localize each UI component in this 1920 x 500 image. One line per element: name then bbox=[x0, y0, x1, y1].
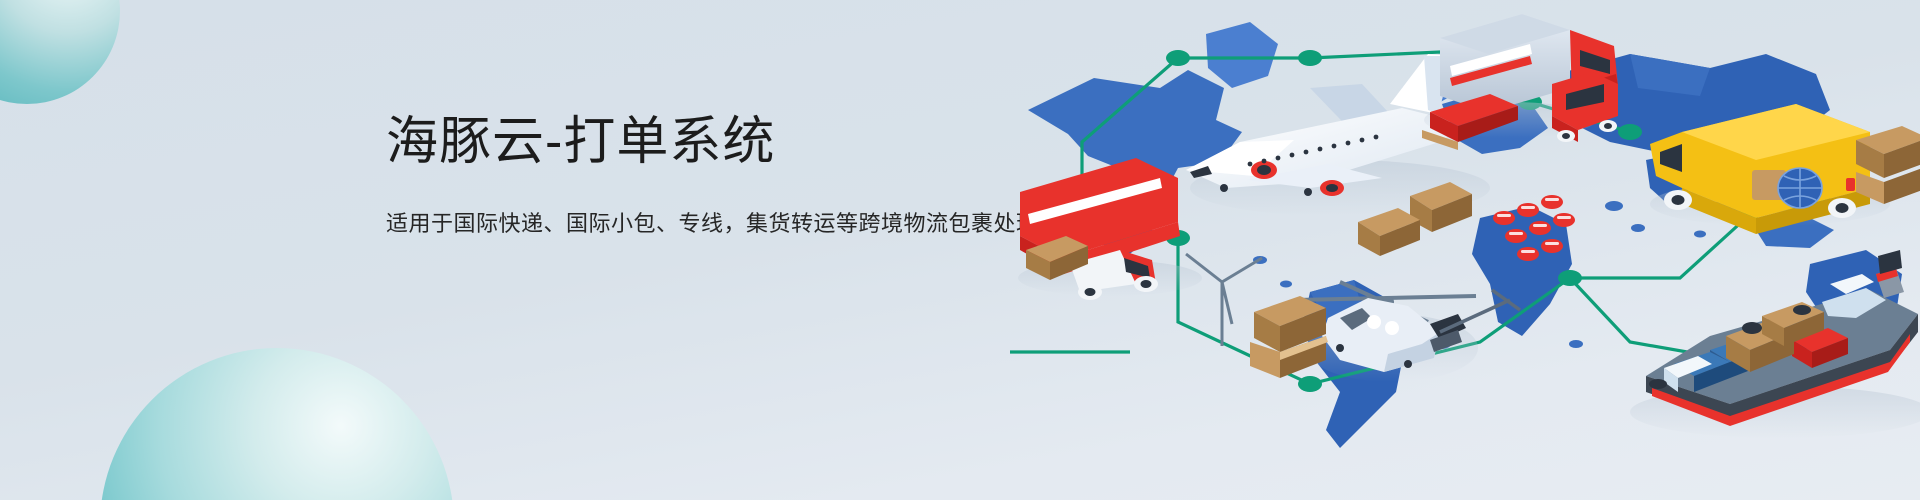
cardboard-boxes bbox=[1250, 296, 1328, 378]
banner-copy: 海豚云-打单系统 适用于国际快递、国际小包、专线，集货转运等跨境物流包裹处理 bbox=[386, 112, 1039, 240]
decor-circle-top-left bbox=[0, 0, 120, 104]
hero-banner: 海豚云-打单系统 适用于国际快递、国际小包、专线，集货转运等跨境物流包裹处理 bbox=[0, 0, 1920, 500]
pickup-truck bbox=[1018, 158, 1202, 300]
page-subtitle: 适用于国际快递、国际小包、专线，集货转运等跨境物流包裹处理 bbox=[386, 173, 1039, 240]
network-node bbox=[1166, 50, 1190, 66]
network-node bbox=[1558, 270, 1582, 286]
page-title: 海豚云-打单系统 bbox=[386, 112, 1039, 173]
small-red-truck bbox=[1552, 72, 1618, 142]
network-node bbox=[1298, 376, 1322, 392]
network-node bbox=[1618, 124, 1642, 140]
network-node bbox=[1298, 50, 1322, 66]
global-logistics-illustration bbox=[1010, 0, 1920, 500]
decor-circle-bottom-left bbox=[100, 348, 454, 500]
